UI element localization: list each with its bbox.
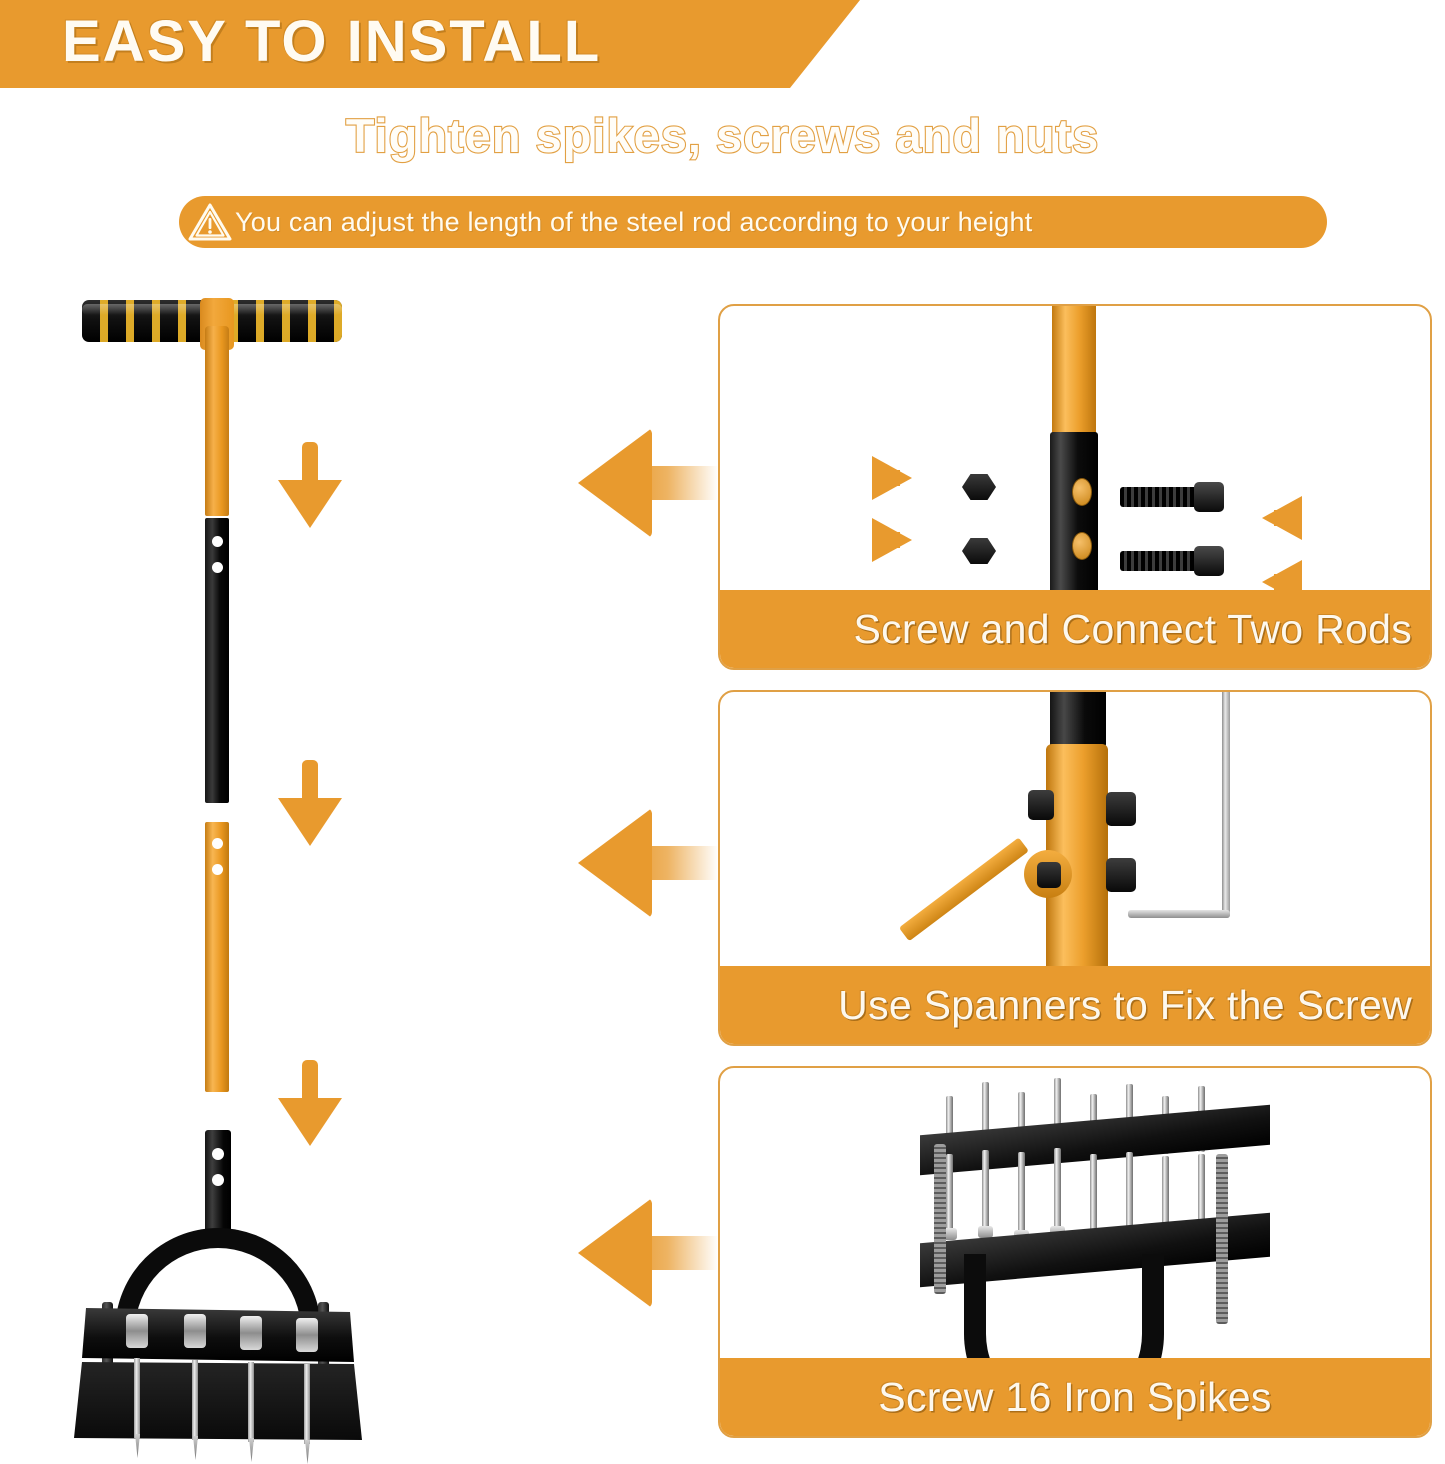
panel-2-illustration xyxy=(720,692,1430,966)
black-rod-segment xyxy=(1050,692,1106,748)
hex-nut-icon xyxy=(962,538,996,564)
connector-arrow-1 xyxy=(578,428,718,538)
panel-1-illustration xyxy=(720,306,1430,590)
down-arrow-1 xyxy=(278,442,342,528)
orange-rod-segment xyxy=(1052,306,1096,442)
middle-black-rod xyxy=(205,518,229,803)
step-panel-screw-spikes[interactable]: Screw 16 Iron Spikes xyxy=(718,1066,1432,1438)
panel-2-label: Use Spanners to Fix the Screw xyxy=(720,966,1430,1044)
panel-3-illustration xyxy=(720,1068,1430,1358)
connector-arrow-3 xyxy=(578,1198,718,1308)
u-arch xyxy=(964,1254,1164,1358)
assembly-arrow-icon xyxy=(1240,560,1302,590)
rod-hole-icon xyxy=(1072,532,1092,560)
step-panel-screw-connect-rods[interactable]: Screw and Connect Two Rods xyxy=(718,304,1432,670)
page-subtitle: Tighten spikes, screws and nuts xyxy=(0,108,1445,163)
connector-arrow-2 xyxy=(578,808,718,918)
allen-key-icon xyxy=(1110,692,1260,956)
hex-bolt-icon xyxy=(1120,482,1230,512)
hex-nut-icon xyxy=(1028,790,1054,820)
panel-3-label: Screw 16 Iron Spikes xyxy=(720,1358,1430,1436)
hex-bolt-icon xyxy=(1120,546,1230,576)
upper-orange-rod xyxy=(205,326,229,516)
spanner-wrench-icon xyxy=(906,840,1076,966)
page-title: EASY TO INSTALL xyxy=(62,8,601,75)
step-panel-use-spanners[interactable]: Use Spanners to Fix the Screw xyxy=(718,690,1432,1046)
assembly-arrow-icon xyxy=(1240,496,1302,540)
panel-1-label: Screw and Connect Two Rods xyxy=(720,590,1430,668)
warning-text: You can adjust the length of the steel r… xyxy=(235,207,1032,238)
aerator-head xyxy=(60,1130,380,1450)
assembly-arrow-icon xyxy=(872,518,934,562)
aerator-head-closeup xyxy=(720,1068,1430,1358)
lower-orange-rod xyxy=(205,822,229,1092)
black-rod-segment xyxy=(1050,432,1098,590)
rod-hole-icon xyxy=(1072,478,1092,506)
down-arrow-2 xyxy=(278,760,342,846)
warning-banner: You can adjust the length of the steel r… xyxy=(179,196,1327,248)
warning-triangle-icon xyxy=(187,199,233,245)
assembly-arrow-icon xyxy=(872,456,934,500)
hex-nut-icon xyxy=(962,474,996,500)
